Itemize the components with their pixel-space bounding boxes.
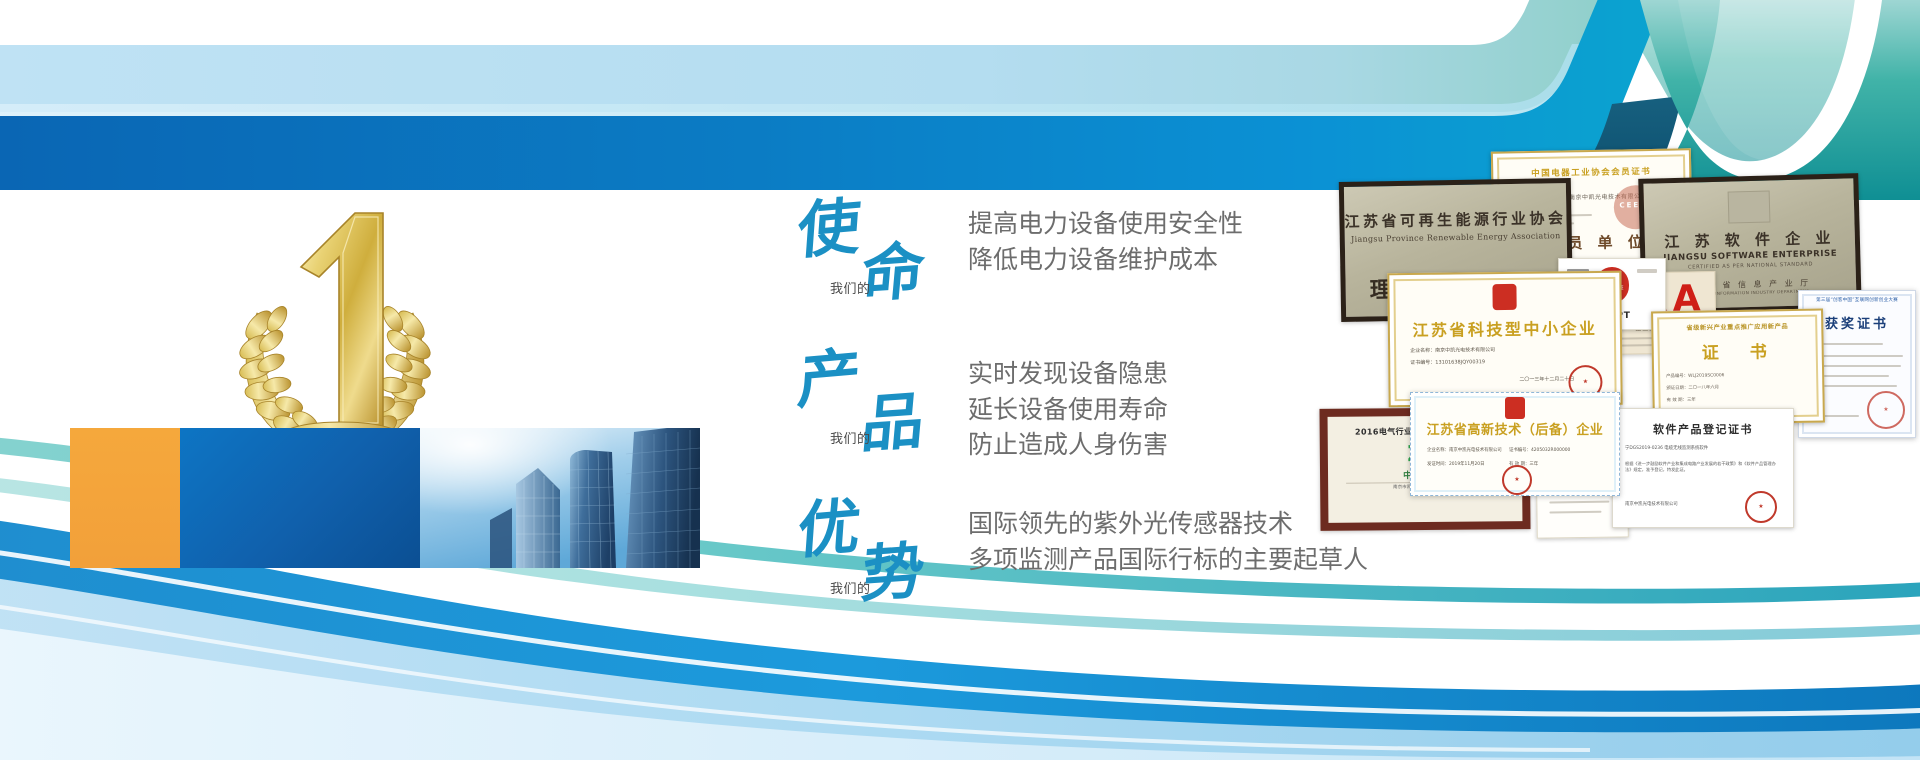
certificate-emblem-icon bbox=[1492, 284, 1516, 310]
award-official-seal: ★ bbox=[1867, 391, 1905, 429]
product-text-lines: 实时发现设备隐患 延长设备使用寿命 防止造成人身伤害 bbox=[968, 356, 1168, 463]
mission-text-lines: 提高电力设备使用安全性 降低电力设备维护成本 bbox=[968, 206, 1243, 277]
calligraphy-prefix-label: 我们的 bbox=[830, 428, 871, 447]
advantage-line-1: 国际领先的紫外光传感器技术 bbox=[968, 506, 1368, 542]
banner-canvas: 使 命 我们的 提高电力设备使用安全性 降低电力设备维护成本 产 品 我们的 实… bbox=[0, 0, 1920, 760]
certificate-field-1: 产品编号：WLJ2019SC0006 bbox=[1666, 372, 1724, 379]
photo-panel-group bbox=[70, 428, 700, 568]
blue-color-block bbox=[180, 428, 420, 568]
certificate-software-product-registration: 软件产品登记证书 宁DGS2019-0236 电缆无线监测系统软件 根据《进一步… bbox=[1612, 408, 1794, 528]
certificate-title: 省级新兴产业重点推广应用新产品 bbox=[1653, 321, 1821, 333]
certificate-subtitle-en: Jiangsu Province Renewable Energy Associ… bbox=[1345, 231, 1567, 244]
value-row-mission: 使 命 我们的 提高电力设备使用安全性 降低电力设备维护成本 bbox=[800, 200, 1400, 350]
certificate-jiangsu-sme-tech: 江苏省科技型中小企业 企业名称：南京中凯光电技术有限公司 证书编号：131016… bbox=[1387, 271, 1622, 407]
certificate-title: 江苏省科技型中小企业 bbox=[1390, 315, 1620, 341]
certificate-header: 第三届“创客中国”互联网创新创业大赛 bbox=[1799, 297, 1915, 303]
certificate-field-2: 证书编号：13101638JQY00319 bbox=[1410, 358, 1485, 366]
product-line-1: 实时发现设备隐患 bbox=[968, 356, 1168, 392]
certificate-field-3: 发证时间：2019年11月20日 bbox=[1427, 461, 1485, 467]
certificate-field-1: 企业名称：南京中凯光电技术有限公司 bbox=[1427, 447, 1502, 453]
calligraphy-prefix-label: 我们的 bbox=[830, 278, 871, 297]
certificate-title-2: 证 书 bbox=[1654, 337, 1822, 365]
mission-line-2: 降低电力设备维护成本 bbox=[968, 242, 1243, 278]
plaque-emblem-icon bbox=[1728, 190, 1771, 223]
certificate-field-2: 颁证日期：二〇一八年六月 bbox=[1666, 384, 1719, 391]
certificate-body-line-2: 根据《进一步鼓励软件产业和集成电路产业发展的若干政策》和《软件产品管理办法》规定… bbox=[1625, 461, 1781, 474]
certificate-field-2: 证书编号：4205032R000000 bbox=[1509, 447, 1605, 453]
calligraphy-product: 产 品 我们的 bbox=[800, 350, 950, 490]
certificate-title: 软件产品登记证书 bbox=[1613, 421, 1793, 437]
value-row-advantage: 优 势 我们的 国际领先的紫外光传感器技术 多项监测产品国际行标的主要起草人 bbox=[800, 500, 1400, 650]
certificate-date: 二〇一三年十二月二十日 bbox=[1464, 375, 1574, 383]
calligraphy-advantage: 优 势 我们的 bbox=[800, 500, 950, 640]
product-line-2: 延长设备使用寿命 bbox=[968, 392, 1168, 428]
calligraphy-prefix-label: 我们的 bbox=[830, 578, 871, 597]
certificate-official-seal: ★ bbox=[1745, 491, 1777, 523]
certificate-wall: 中国电器工业协会会员证书 单位名称：南京中凯光电技术有限公司 CEEIA 会 员… bbox=[1340, 150, 1920, 670]
value-propositions: 使 命 我们的 提高电力设备使用安全性 降低电力设备维护成本 产 品 我们的 实… bbox=[800, 200, 1400, 650]
advantage-line-2: 多项监测产品国际行标的主要起草人 bbox=[968, 542, 1368, 578]
advantage-text-lines: 国际领先的紫外光传感器技术 多项监测产品国际行标的主要起草人 bbox=[968, 506, 1368, 577]
certificate-body-line-1: 宁DGS2019-0236 电缆无线监测系统软件 bbox=[1625, 445, 1781, 451]
certificate-sponsor-line bbox=[1328, 503, 1522, 510]
certificate-title: 江苏省高新技术（后备）企业 bbox=[1411, 419, 1619, 438]
certificate-emblem-icon bbox=[1505, 397, 1525, 419]
certificate-jiangsu-high-tech-reserve: 江苏省高新技术（后备）企业 企业名称：南京中凯光电技术有限公司 发证时间：201… bbox=[1410, 392, 1620, 496]
certificate-title: 江苏省可再生能源行业协会 bbox=[1344, 207, 1566, 232]
value-row-product: 产 品 我们的 实时发现设备隐患 延长设备使用寿命 防止造成人身伤害 bbox=[800, 350, 1400, 500]
certificate-field-1: 企业名称：南京中凯光电技术有限公司 bbox=[1410, 346, 1495, 354]
calligraphy-char-1: 产 bbox=[796, 345, 863, 412]
calligraphy-char-1: 优 bbox=[796, 495, 863, 562]
mission-line-1: 提高电力设备使用安全性 bbox=[968, 206, 1243, 242]
orange-color-block bbox=[70, 428, 180, 568]
product-line-3: 防止造成人身伤害 bbox=[968, 427, 1168, 463]
calligraphy-char-1: 使 bbox=[796, 195, 863, 262]
city-skyscraper-photo bbox=[420, 428, 700, 568]
calligraphy-mission: 使 命 我们的 bbox=[800, 200, 950, 340]
certificate-field-3: 有 效 期：三年 bbox=[1667, 397, 1696, 404]
certificate-official-seal: ★ bbox=[1502, 465, 1532, 495]
